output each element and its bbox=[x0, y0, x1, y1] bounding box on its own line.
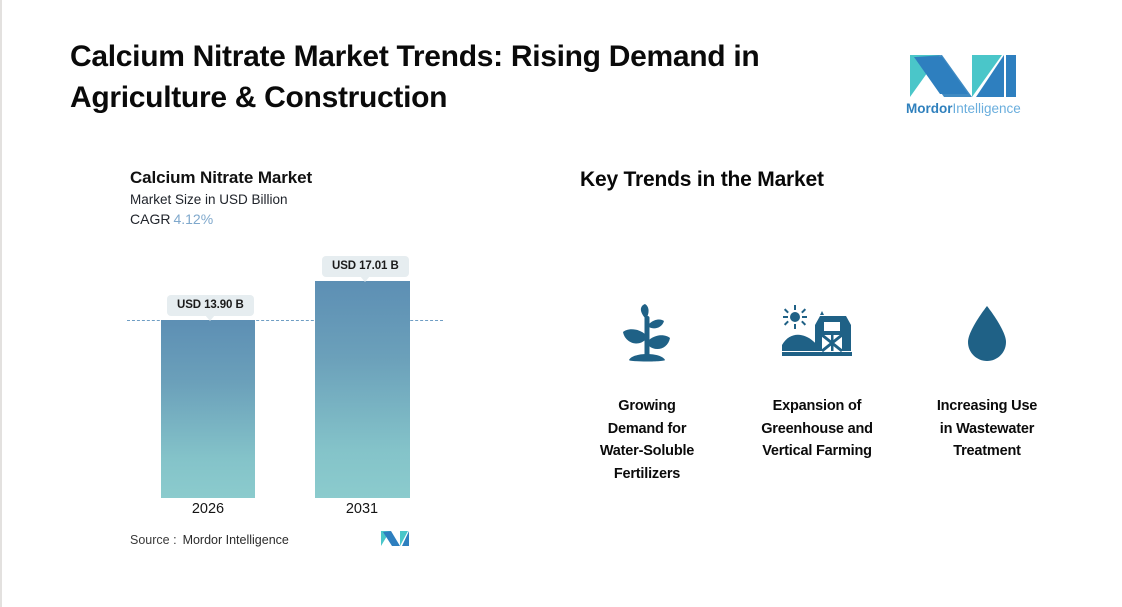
brand-logo: MordorIntelligence bbox=[906, 45, 1019, 125]
bar-category-label-2031: 2031 bbox=[302, 501, 422, 517]
trend-label-2-line-3: Vertical Farming bbox=[762, 443, 872, 459]
source-mordor-m-logo-icon bbox=[380, 529, 412, 547]
trend-label-2-line-1: Expansion of bbox=[773, 398, 862, 414]
trend-item-2: Expansion of Greenhouse and Vertical Far… bbox=[742, 300, 892, 463]
trend-label-3-line-2: in Wastewater bbox=[940, 421, 1034, 437]
bar-value-badge-2031: USD 17.01 B bbox=[322, 256, 409, 277]
chart-title: Calcium Nitrate Market bbox=[130, 168, 312, 188]
brand-word-mordor: Mordor bbox=[906, 101, 953, 116]
trend-label-3: Increasing Use in Wastewater Treatment bbox=[937, 395, 1037, 463]
chart-subtitle: Market Size in USD Billion bbox=[130, 192, 288, 207]
chart-source-value: Mordor Intelligence bbox=[183, 533, 289, 547]
chart-source: Source :Mordor Intelligence bbox=[130, 533, 289, 547]
farm-barn-sun-icon bbox=[780, 300, 854, 368]
chart-source-label: Source : bbox=[130, 533, 177, 547]
trends-row: Growing Demand for Water-Soluble Fertili… bbox=[572, 300, 1062, 485]
trend-item-1: Growing Demand for Water-Soluble Fertili… bbox=[572, 300, 722, 485]
chart-cagr: CAGR4.12% bbox=[130, 211, 213, 227]
chart-cagr-label: CAGR bbox=[130, 211, 170, 227]
trend-item-3: Increasing Use in Wastewater Treatment bbox=[912, 300, 1062, 463]
infographic-page: Calcium Nitrate Market Trends: Rising De… bbox=[0, 0, 1122, 607]
bar-value-badge-2026: USD 13.90 B bbox=[167, 295, 254, 316]
seedling-plant-icon bbox=[619, 300, 675, 368]
chart-panel: Calcium Nitrate Market Market Size in US… bbox=[2, 0, 482, 607]
trend-label-2: Expansion of Greenhouse and Vertical Far… bbox=[761, 395, 873, 463]
trend-label-1-line-2: Demand for bbox=[608, 421, 687, 437]
trend-label-1-line-1: Growing bbox=[618, 398, 675, 414]
brand-word-intelligence: Intelligence bbox=[953, 101, 1021, 116]
trend-label-3-line-1: Increasing Use bbox=[937, 398, 1037, 414]
bar-category-label-2026: 2026 bbox=[148, 501, 268, 517]
trend-label-1: Growing Demand for Water-Soluble Fertili… bbox=[600, 395, 694, 485]
trend-label-1-line-3: Water-Soluble bbox=[600, 443, 694, 459]
bar-2031 bbox=[315, 281, 410, 498]
chart-cagr-value: 4.12% bbox=[173, 211, 213, 227]
trend-label-1-line-4: Fertilizers bbox=[614, 466, 680, 482]
water-droplet-icon bbox=[966, 300, 1008, 368]
mordor-m-logo-icon bbox=[906, 45, 1019, 99]
bar-2026 bbox=[161, 320, 255, 498]
trend-label-3-line-3: Treatment bbox=[953, 443, 1021, 459]
trends-heading: Key Trends in the Market bbox=[580, 168, 824, 192]
brand-wordmark: MordorIntelligence bbox=[906, 101, 1019, 116]
trend-label-2-line-2: Greenhouse and bbox=[761, 421, 873, 437]
